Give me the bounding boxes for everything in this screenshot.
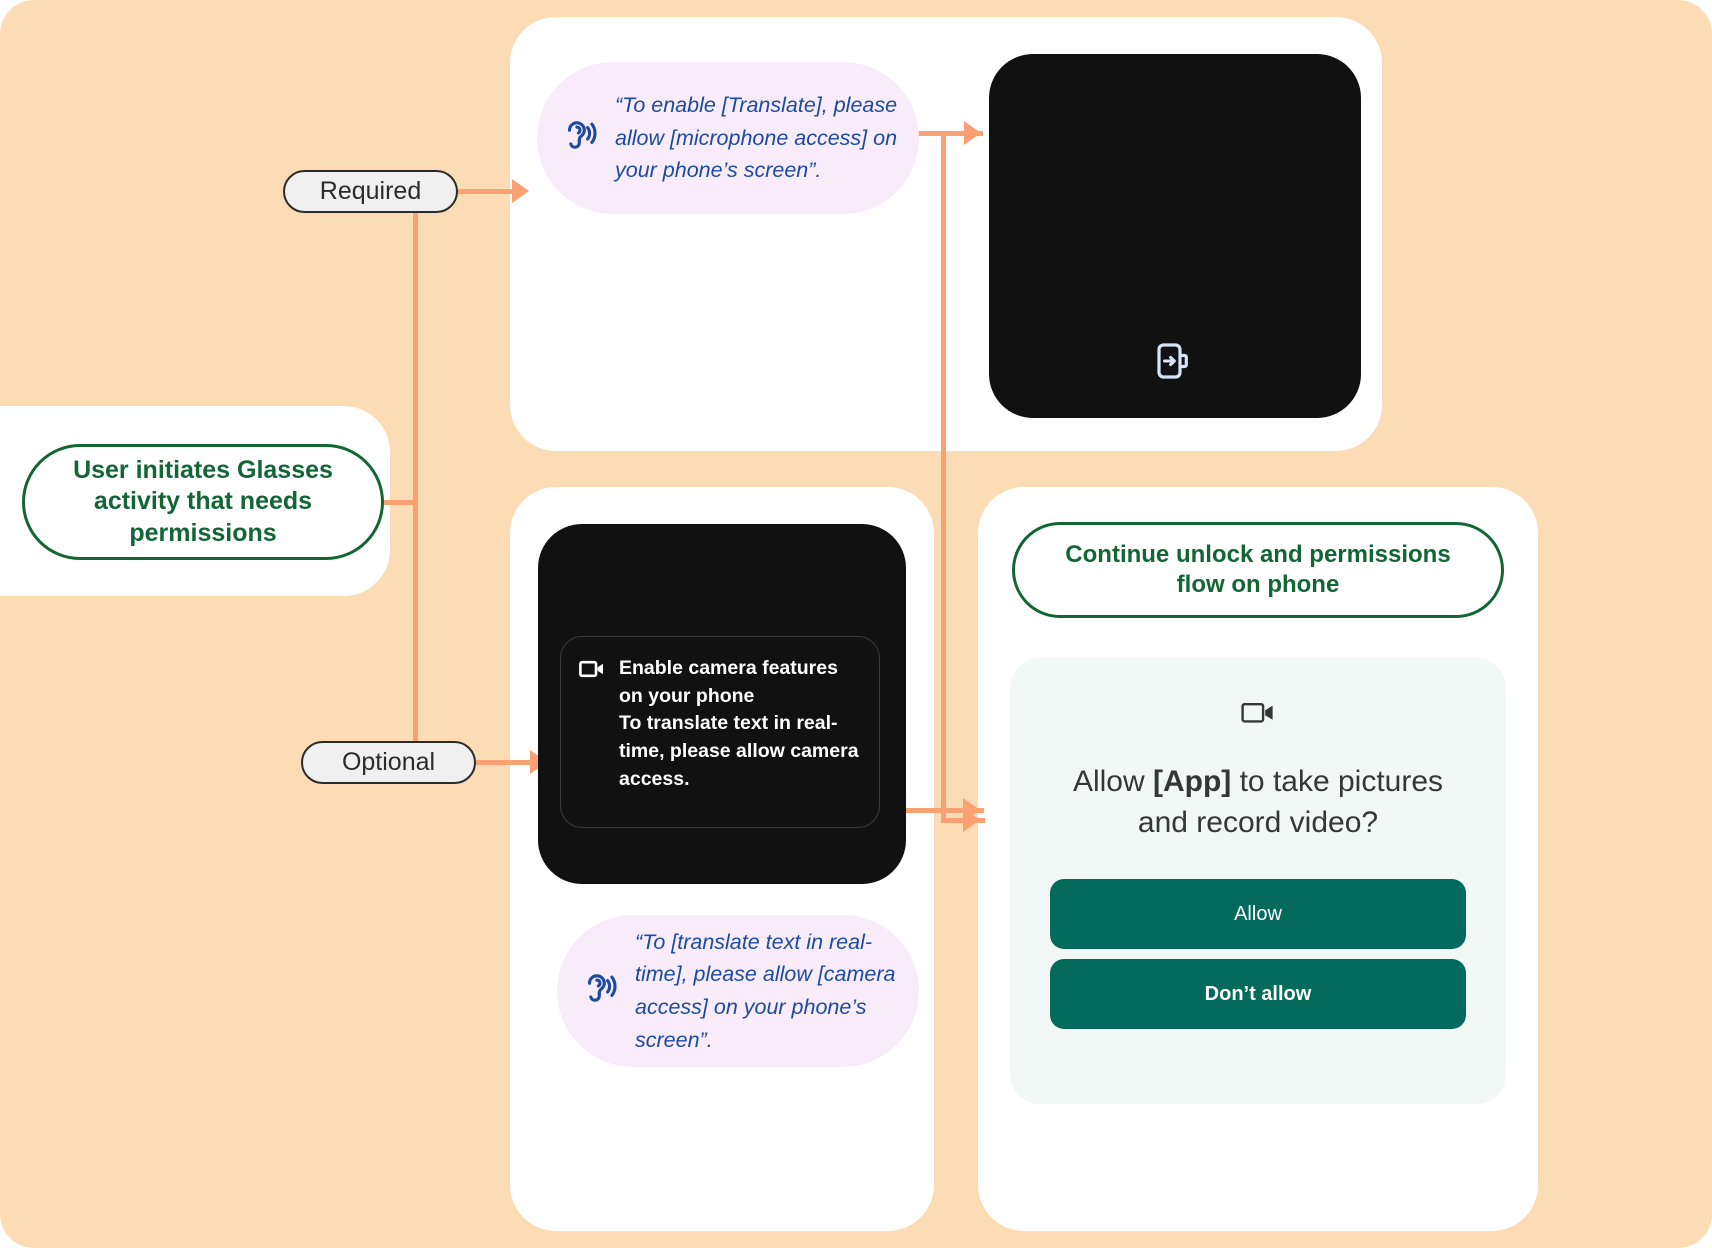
audio-bubble-required-text: “To enable [Translate], please allow [mi…: [615, 89, 907, 187]
connector-optional-to-glasses: [476, 760, 536, 765]
camera-card-title: Enable camera features on your phone: [619, 655, 859, 710]
permission-dialog: Allow [App] to take pictures and record …: [1010, 658, 1506, 1104]
permission-question: Allow [App] to take pictures and record …: [1050, 762, 1466, 843]
arrowhead-glasses-to-outcome: [963, 798, 980, 822]
branch-pill-optional-label: Optional: [342, 748, 435, 777]
connector-branch-spine: [413, 191, 418, 763]
connector-start-to-spine: [384, 500, 416, 505]
arrowhead-required-to-bubble: [512, 179, 529, 203]
connector-vertical-drop: [941, 133, 946, 823]
video-camera-icon: [579, 659, 605, 827]
dont-allow-button-label: Don’t allow: [1205, 983, 1312, 1006]
branch-pill-optional[interactable]: Optional: [301, 741, 476, 784]
camera-card-body: To translate text in real-time, please a…: [619, 710, 859, 793]
dont-allow-button[interactable]: Don’t allow: [1050, 959, 1466, 1029]
outcome-node[interactable]: Continue unlock and permissions flow on …: [1012, 522, 1504, 618]
connector-required-to-bubble: [458, 189, 518, 194]
start-node[interactable]: User initiates Glasses activity that nee…: [22, 444, 384, 560]
diagram-canvas: User initiates Glasses activity that nee…: [0, 0, 1712, 1248]
video-camera-icon: [1241, 700, 1275, 730]
start-node-label: User initiates Glasses activity that nee…: [25, 455, 381, 550]
ear-audio-icon: [581, 971, 617, 1012]
phone-unlock-icon: [1155, 342, 1189, 380]
permission-question-prefix: Allow: [1073, 765, 1153, 798]
arrowhead-bubble-to-glasses: [964, 121, 981, 145]
ear-audio-icon: [561, 118, 597, 159]
camera-permission-card: Enable camera features on your phone To …: [560, 636, 880, 828]
audio-bubble-optional-text: “To [translate text in real-time], pleas…: [635, 926, 907, 1057]
outcome-node-label: Continue unlock and permissions flow on …: [1015, 540, 1501, 600]
branch-pill-required-label: Required: [320, 177, 421, 206]
branch-pill-required[interactable]: Required: [283, 170, 458, 213]
allow-button[interactable]: Allow: [1050, 879, 1466, 949]
permission-question-app: [App]: [1153, 765, 1231, 798]
audio-bubble-required: “To enable [Translate], please allow [mi…: [537, 62, 919, 214]
audio-bubble-optional: “To [translate text in real-time], pleas…: [557, 915, 919, 1067]
allow-button-label: Allow: [1234, 903, 1282, 926]
